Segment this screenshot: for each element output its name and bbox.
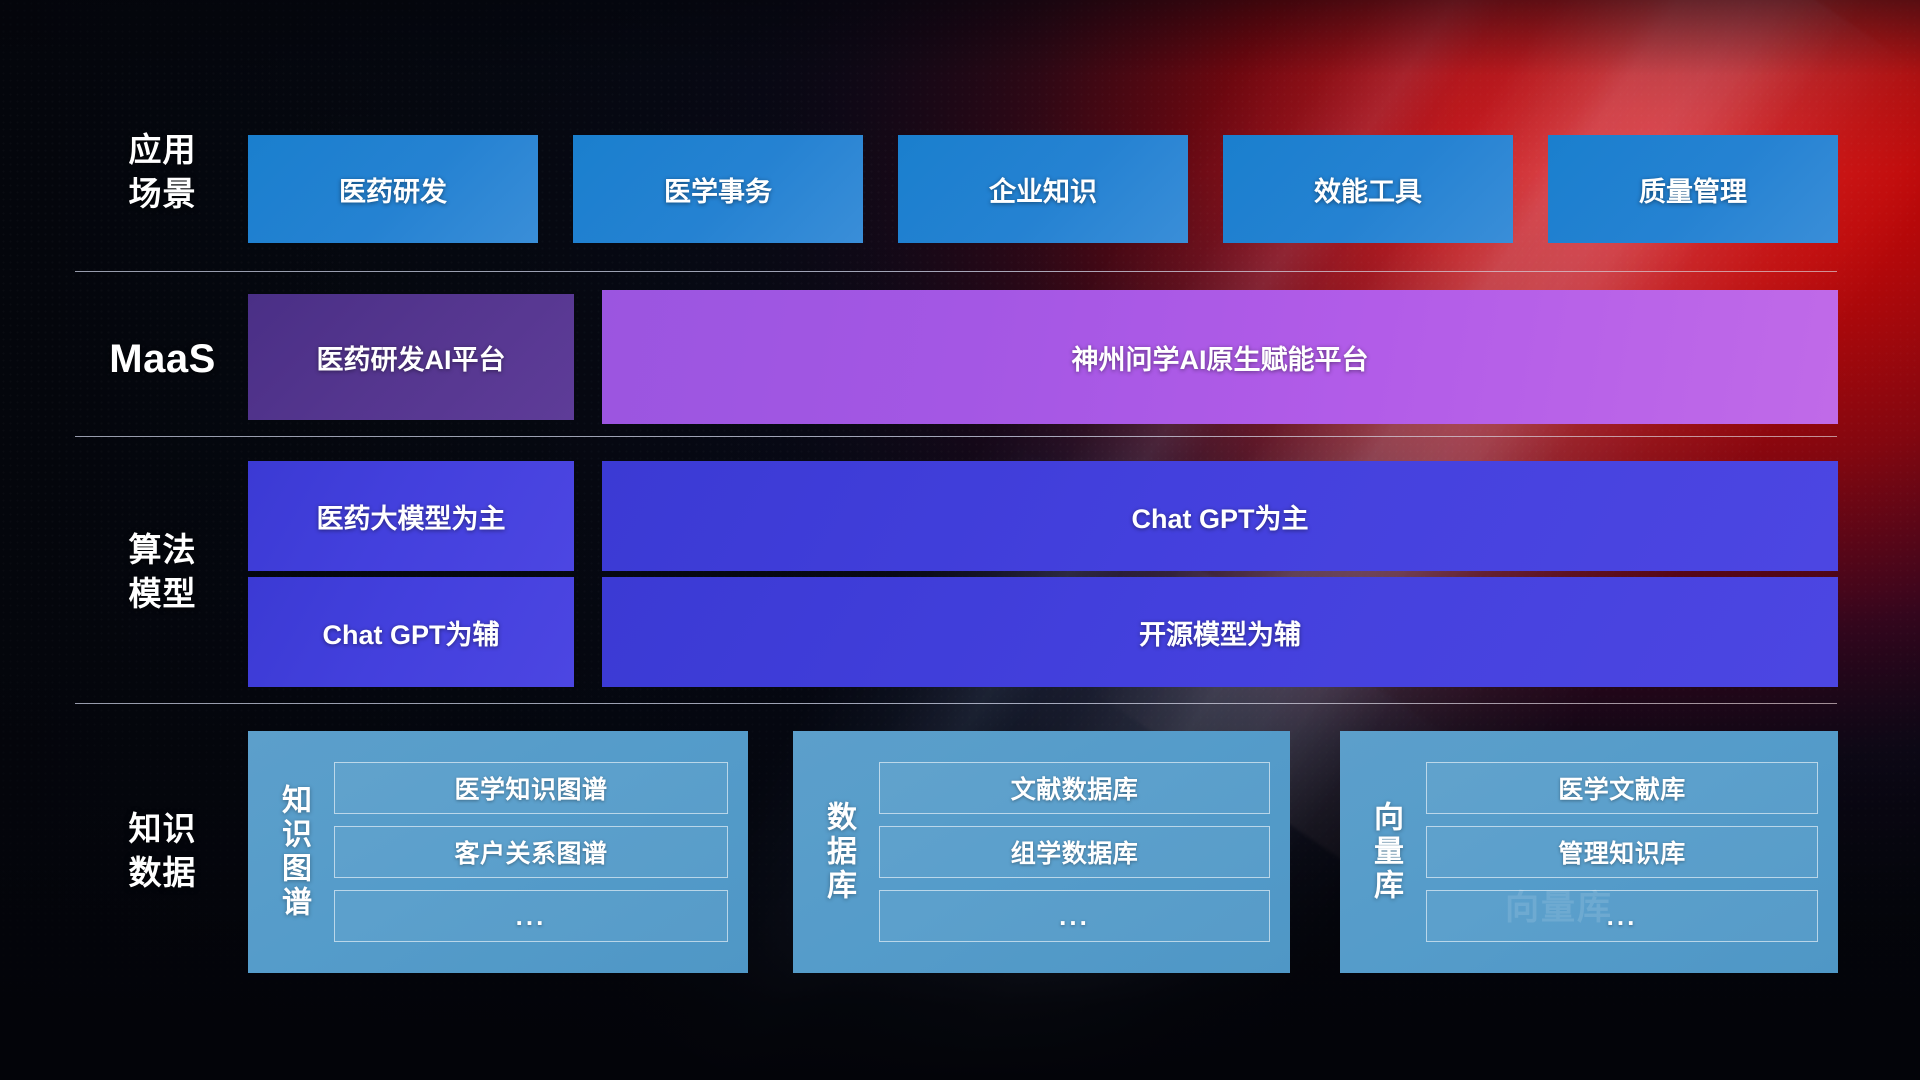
knowledge-item-list: 医学文献库 管理知识库 ... <box>1416 762 1822 942</box>
app-scenario-label: 质量管理 <box>1639 170 1747 209</box>
knowledge-item[interactable]: 客户关系图谱 <box>334 826 728 878</box>
knowledge-block-title: 数据库 <box>807 801 869 903</box>
row-label-application: 应用 场景 <box>75 128 250 216</box>
app-scenario-card-1[interactable]: 医学事务 <box>573 135 863 243</box>
algorithm-label: 医药大模型为主 <box>317 497 506 536</box>
app-scenario-label: 医药研发 <box>339 170 447 209</box>
knowledge-item-list: 医学知识图谱 客户关系图谱 ... <box>324 762 732 942</box>
app-scenario-label: 医学事务 <box>664 170 772 209</box>
knowledge-item-label: 管理知识库 <box>1558 834 1686 870</box>
knowledge-item-more[interactable]: ... <box>334 890 728 942</box>
knowledge-item[interactable]: 组学数据库 <box>879 826 1270 878</box>
algorithm-label: Chat GPT为辅 <box>322 613 499 652</box>
architecture-diagram: 应用 场景 医药研发 医学事务 企业知识 效能工具 质量管理 MaaS 医药研发… <box>0 0 1920 1080</box>
maas-platform-label: 医药研发AI平台 <box>317 338 506 377</box>
knowledge-item-more[interactable]: ... <box>879 890 1270 942</box>
knowledge-item[interactable]: 医学知识图谱 <box>334 762 728 814</box>
knowledge-item-more[interactable]: ... <box>1426 890 1818 942</box>
row-label-maas: MaaS <box>75 337 250 381</box>
app-scenario-card-2[interactable]: 企业知识 <box>898 135 1188 243</box>
knowledge-item-label: ... <box>1607 901 1638 932</box>
algorithm-label: 开源模型为辅 <box>1139 613 1301 652</box>
knowledge-item-label: 医学文献库 <box>1558 770 1686 806</box>
app-scenario-label: 企业知识 <box>989 170 1097 209</box>
knowledge-item-label: 组学数据库 <box>1011 834 1139 870</box>
knowledge-block-graph[interactable]: 知识图谱 医学知识图谱 客户关系图谱 ... <box>248 731 748 973</box>
row-divider-maas-algorithm <box>75 436 1837 437</box>
knowledge-block-title: 知识图谱 <box>262 784 324 920</box>
maas-platform-card-shenzhou[interactable]: 神州问学AI原生赋能平台 <box>602 290 1838 424</box>
app-scenario-label: 效能工具 <box>1314 170 1422 209</box>
knowledge-item-label: 客户关系图谱 <box>454 834 607 870</box>
knowledge-block-vector[interactable]: 向量库 医学文献库 管理知识库 ... <box>1340 731 1838 973</box>
knowledge-block-database[interactable]: 数据库 文献数据库 组学数据库 ... <box>793 731 1290 973</box>
knowledge-item-label: ... <box>516 901 547 932</box>
knowledge-item[interactable]: 文献数据库 <box>879 762 1270 814</box>
algorithm-card-left-1[interactable]: Chat GPT为辅 <box>248 577 574 687</box>
algorithm-card-right-0[interactable]: Chat GPT为主 <box>602 461 1838 571</box>
knowledge-item[interactable]: 医学文献库 <box>1426 762 1818 814</box>
knowledge-item[interactable]: 管理知识库 <box>1426 826 1818 878</box>
app-scenario-card-0[interactable]: 医药研发 <box>248 135 538 243</box>
knowledge-item-label: ... <box>1059 901 1090 932</box>
knowledge-item-label: 医学知识图谱 <box>454 770 607 806</box>
row-divider-application-maas <box>75 271 1837 272</box>
row-label-knowledge: 知识 数据 <box>75 807 250 895</box>
algorithm-card-right-1[interactable]: 开源模型为辅 <box>602 577 1838 687</box>
maas-platform-label: 神州问学AI原生赋能平台 <box>1072 338 1369 377</box>
row-label-algorithm: 算法 模型 <box>75 528 250 616</box>
algorithm-label: Chat GPT为主 <box>1131 497 1308 536</box>
knowledge-item-label: 文献数据库 <box>1011 770 1139 806</box>
knowledge-block-title: 向量库 <box>1354 801 1416 903</box>
maas-platform-card-pharma[interactable]: 医药研发AI平台 <box>248 294 574 420</box>
app-scenario-card-3[interactable]: 效能工具 <box>1223 135 1513 243</box>
algorithm-card-left-0[interactable]: 医药大模型为主 <box>248 461 574 571</box>
knowledge-item-list: 文献数据库 组学数据库 ... <box>869 762 1274 942</box>
row-divider-algorithm-knowledge <box>75 703 1837 704</box>
app-scenario-card-4[interactable]: 质量管理 <box>1548 135 1838 243</box>
